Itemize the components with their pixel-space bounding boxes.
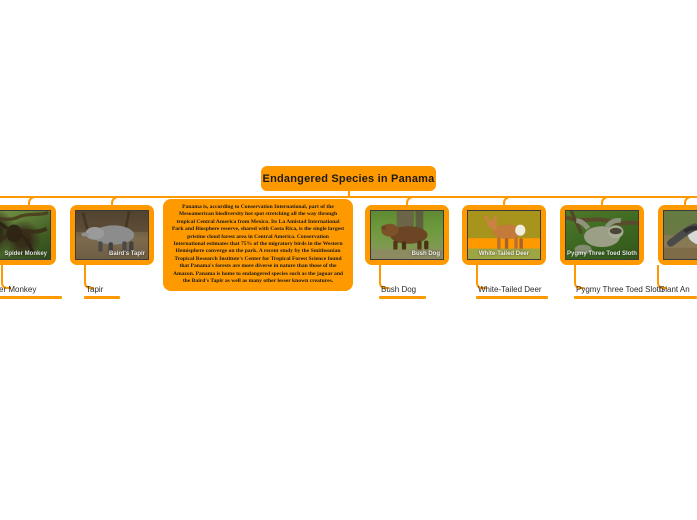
photo-pygmy-three-toed-sloth: Pygmy Three Toed Sloth: [565, 210, 639, 260]
root-node-title[interactable]: Endangered Species in Panama: [261, 166, 436, 191]
leaf-label-white-tailed-deer: White-Tailed Deer: [476, 285, 548, 296]
card-giant-anteater[interactable]: [658, 205, 697, 265]
trunk-horizontal-connector: [0, 196, 697, 198]
leaf-label-bush-dog: Bush Dog: [379, 285, 426, 296]
leaf-giant-anteater[interactable]: Giant An: [657, 285, 697, 299]
root-node-label: Endangered Species in Panama: [263, 173, 435, 185]
card-spider-monkey[interactable]: Spider Monkey: [0, 205, 56, 265]
watermark-tapir: Baird's Tapir: [109, 251, 145, 257]
photo-white-tailed-deer: White-Tailed Deer: [467, 210, 541, 260]
leaf-label-pygmy-three-toed-sloth: Pygmy Three Toed Sloth: [574, 285, 666, 296]
leaf-pygmy-three-toed-sloth[interactable]: Pygmy Three Toed Sloth: [574, 285, 666, 299]
leaf-white-tailed-deer[interactable]: White-Tailed Deer: [476, 285, 548, 299]
leaf-bush-dog[interactable]: Bush Dog: [379, 285, 426, 299]
watermark-spider-monkey: Spider Monkey: [4, 251, 47, 257]
leaf-label-spider-monkey: Spider Monkey: [0, 285, 62, 296]
leaf-spider-monkey[interactable]: Spider Monkey: [0, 285, 62, 299]
leaf-underline-spider-monkey: [0, 296, 62, 299]
card-pygmy-three-toed-sloth[interactable]: Pygmy Three Toed Sloth: [560, 205, 644, 265]
giant-anteater-illustration: [664, 211, 697, 259]
card-bush-dog[interactable]: Bush Dog: [365, 205, 449, 265]
leaf-underline-pygmy-three-toed-sloth: [574, 296, 666, 299]
mindmap-canvas: Endangered Species in Panama Spider Monk…: [0, 0, 697, 520]
photo-giant-anteater: [663, 210, 697, 260]
leaf-underline-tapir: [84, 296, 120, 299]
leaf-underline-giant-anteater: [657, 296, 697, 299]
watermark-white-tailed-deer: White-Tailed Deer: [468, 251, 540, 257]
photo-tapir: Baird's Tapir: [75, 210, 149, 260]
photo-spider-monkey: Spider Monkey: [0, 210, 51, 260]
leaf-label-giant-anteater: Giant An: [657, 285, 697, 296]
leaf-tapir[interactable]: Tapir: [84, 285, 120, 299]
watermark-bush-dog: Bush Dog: [412, 251, 440, 257]
leaf-underline-white-tailed-deer: [476, 296, 548, 299]
note-node-panama-description[interactable]: Panama is, according to Conservation Int…: [163, 199, 353, 291]
leaf-label-tapir: Tapir: [84, 285, 120, 296]
watermark-pygmy-three-toed-sloth: Pygmy Three Toed Sloth: [566, 251, 638, 257]
photo-bush-dog: Bush Dog: [370, 210, 444, 260]
card-tapir[interactable]: Baird's Tapir: [70, 205, 154, 265]
note-node-text: Panama is, according to Conservation Int…: [171, 204, 345, 285]
card-white-tailed-deer[interactable]: White-Tailed Deer: [462, 205, 546, 265]
leaf-underline-bush-dog: [379, 296, 426, 299]
